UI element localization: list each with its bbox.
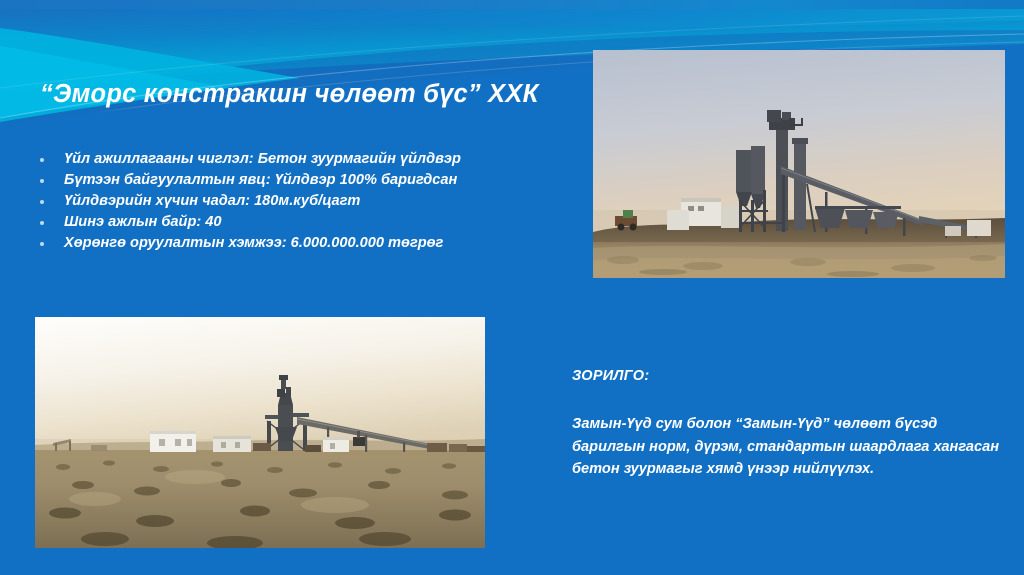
- concrete-plant-image-1: [593, 50, 1005, 278]
- list-item-label: Хөрөнгө оруулалтын хэмжээ: 6.000.000.000…: [64, 235, 443, 251]
- list-item-label: Үйлдвэрийн хүчин чадал: 180м.куб/цагт: [64, 193, 360, 209]
- goal-heading: ЗОРИЛГО:: [572, 368, 650, 384]
- bullet-dot-icon: [40, 158, 44, 162]
- list-item-label: Үйл ажиллагааны чиглэл: Бетон зуурмагийн…: [64, 151, 461, 167]
- company-facts-list: Үйл ажиллагааны чиглэл: Бетон зуурмагийн…: [32, 150, 572, 255]
- bullet-dot-icon: [40, 242, 44, 246]
- goal-body-text: Замын-Үүд сум болон “Замын-Үүд” чөлөөт б…: [572, 413, 1002, 481]
- list-item: Үйлдвэрийн хүчин чадал: 180м.куб/цагт: [32, 192, 572, 212]
- bullet-dot-icon: [40, 221, 44, 225]
- concrete-plant-photo-bottom-left: [35, 317, 485, 548]
- list-item: Хөрөнгө оруулалтын хэмжээ: 6.000.000.000…: [32, 234, 572, 254]
- page-title: “Эморс констракшн чөлөөт бүс” ХХК: [40, 80, 580, 109]
- concrete-plant-photo-top-right: [593, 50, 1005, 278]
- concrete-plant-image-2: [35, 317, 485, 548]
- list-item-label: Шинэ ажлын байр: 40: [64, 214, 222, 230]
- list-item: Бүтээн байгуулалтын явц: Үйлдвэр 100% ба…: [32, 171, 572, 191]
- list-item: Шинэ ажлын байр: 40: [32, 213, 572, 233]
- list-item: Үйл ажиллагааны чиглэл: Бетон зуурмагийн…: [32, 150, 572, 170]
- bullet-dot-icon: [40, 179, 44, 183]
- bullet-dot-icon: [40, 200, 44, 204]
- list-item-label: Бүтээн байгуулалтын явц: Үйлдвэр 100% ба…: [64, 172, 457, 188]
- presentation-slide: “Эморс констракшн чөлөөт бүс” ХХК Үйл аж…: [0, 0, 1024, 575]
